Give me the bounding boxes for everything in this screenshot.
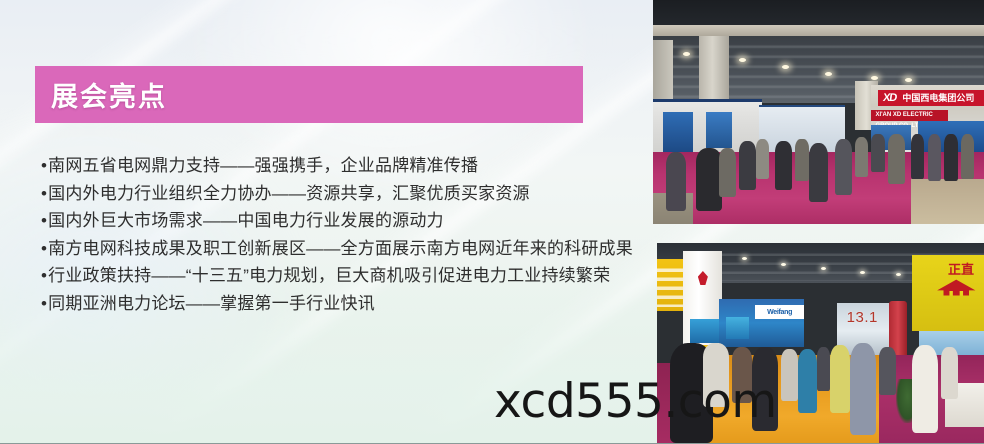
visitor-figure (809, 143, 829, 201)
xd-signage: XD 中国西电集团公司 (878, 90, 984, 107)
visitor-figure (888, 134, 905, 183)
list-item-text: 同期亚洲电力论坛——掌握第一手行业快讯 (48, 294, 375, 313)
ceiling-downlight (821, 267, 826, 270)
booth-screen (706, 112, 732, 148)
ceiling-downlight (860, 271, 865, 274)
visitor-figure (855, 137, 868, 177)
bullet-icon: • (41, 180, 47, 208)
xd-company-name: 中国西电集团公司 (902, 91, 974, 104)
list-item-text: 行业政策扶持——“十三五”电力规划，巨大商机吸引促进电力工业持续繁荣 (48, 266, 610, 285)
bullet-icon: • (41, 207, 47, 235)
list-item-text: 南网五省电网鼎力支持——强强携手，企业品牌精准传播 (48, 156, 478, 175)
list-item: •国内外巨大市场需求——中国电力行业发展的源动力 (41, 207, 701, 235)
photo-exhibition-hall-top: XD 中国西电集团公司 XI'AN XD ELECTRIC GROUP CO.,… (653, 0, 984, 224)
visitor-figure (666, 152, 686, 210)
watermark: xcd555.com (494, 374, 777, 429)
booth-blue-signage-text: Weifang (767, 309, 792, 316)
bullet-icon: • (41, 262, 47, 290)
booth-name-label: 正直 (948, 259, 974, 278)
booth-blue-signage: Weifang (755, 305, 804, 319)
visitor-figure (928, 134, 941, 181)
visitor-figure (871, 134, 884, 172)
list-item: •南方电网科技成果及职工创新展区——全方面展示南方电网近年来的科研成果 (41, 235, 701, 263)
ceiling-downlight (782, 65, 789, 69)
list-item-text: 国内外巨大市场需求——中国电力行业发展的源动力 (48, 211, 444, 230)
visitor-figure (795, 139, 808, 182)
booth-arch-logo-icon (935, 279, 978, 297)
visitor-figure (830, 345, 850, 413)
highlights-list: •南网五省电网鼎力支持——强强携手，企业品牌精准传播 •国内外电力行业组织全力协… (41, 152, 701, 317)
list-item-text: 南方电网科技成果及职工创新展区——全方面展示南方电网近年来的科研成果 (48, 239, 633, 258)
ceiling-downlight (742, 257, 747, 260)
bullet-icon: • (41, 152, 47, 180)
ceiling-downlight (825, 72, 832, 76)
list-item-text: 国内外电力行业组织全力协办——资源共享，汇聚优质买家资源 (48, 184, 530, 203)
xd-logo-text: XD (882, 92, 897, 104)
list-item: •同期亚洲电力论坛——掌握第一手行业快讯 (41, 290, 701, 318)
visitor-figure (719, 148, 736, 197)
booth-screen (690, 319, 719, 343)
page-title: 展会亮点 (51, 75, 167, 114)
visitor-figure (912, 345, 938, 433)
list-item: •行业政策扶持——“十三五”电力规划，巨大商机吸引促进电力工业持续繁荣 (41, 262, 701, 290)
visitor-figure (961, 134, 974, 179)
ceiling-downlight (683, 52, 690, 56)
booth-screen (663, 112, 693, 152)
booth-yellow-left-stripes (657, 263, 686, 307)
bullet-icon: • (41, 235, 47, 263)
slide-canvas: 展会亮点 •南网五省电网鼎力支持——强强携手，企业品牌精准传播 •国内外电力行业… (0, 0, 984, 444)
visitor-figure (781, 349, 797, 401)
visitor-figure (835, 139, 852, 195)
xd-signage-secondary: XI'AN XD ELECTRIC GROUP CO.,LTD (871, 110, 947, 121)
ceiling-downlight (896, 273, 901, 276)
visitor-figure (941, 347, 957, 399)
visitor-figure (817, 347, 830, 391)
booth-screen (726, 317, 749, 339)
visitor-figure (850, 343, 876, 435)
ceiling-dark (653, 0, 984, 27)
visitor-figure (879, 347, 895, 395)
section-header-banner: 展会亮点 (35, 66, 583, 123)
visitor-figure (775, 141, 792, 190)
visitor-figure (944, 134, 957, 181)
bullet-icon: • (41, 290, 47, 318)
list-item: •南网五省电网鼎力支持——强强携手，企业品牌精准传播 (41, 152, 701, 180)
visitor-figure (911, 134, 924, 179)
visitor-figure (756, 139, 769, 179)
visitor-figure (739, 141, 756, 190)
floor-tile-right (911, 179, 984, 224)
list-item: •国内外电力行业组织全力协办——资源共享，汇聚优质买家资源 (41, 180, 701, 208)
hall-number-label: 13.1 (847, 309, 878, 326)
visitor-figure (798, 349, 818, 413)
